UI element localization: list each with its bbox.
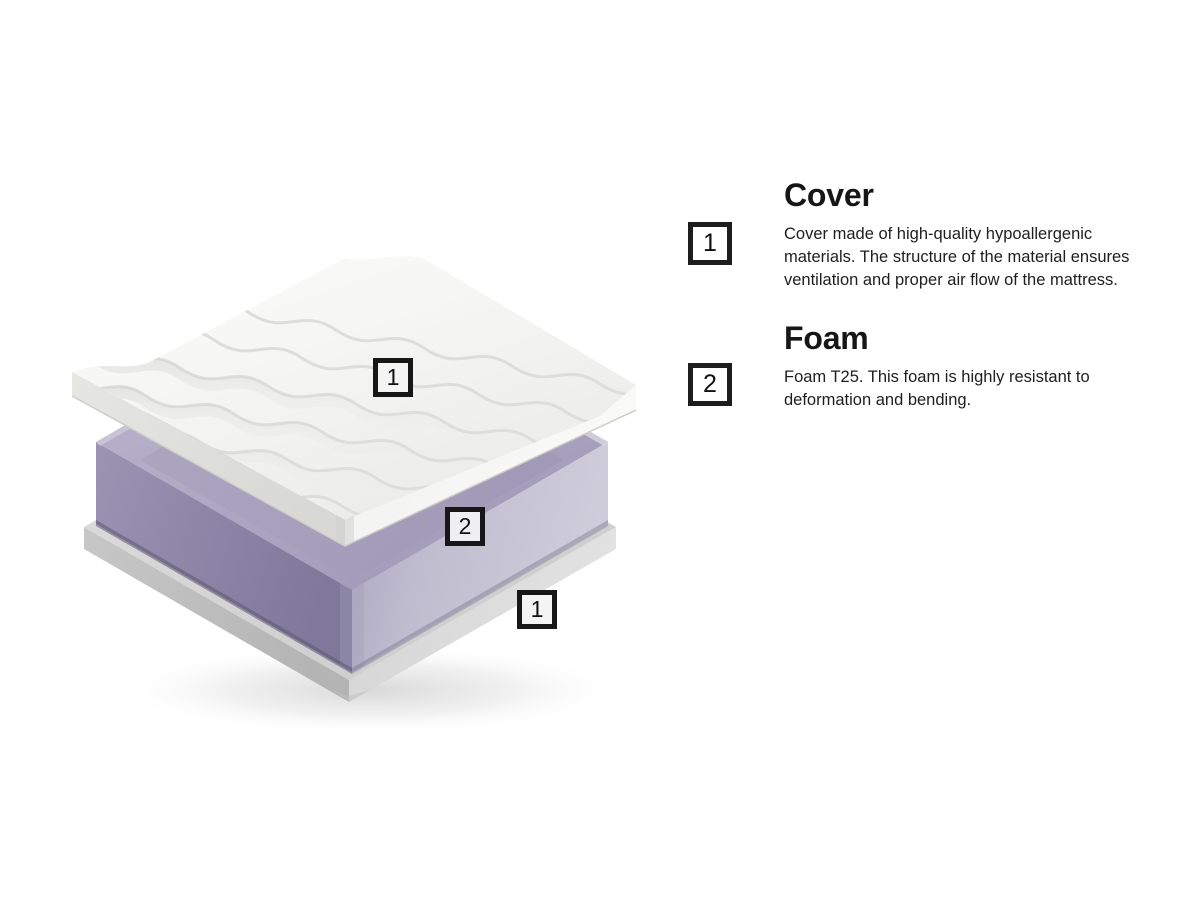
legend: 1 Cover Cover made of high-quality hypoa… — [688, 175, 1158, 438]
legend-badge-1: 1 — [688, 222, 732, 265]
marker-foam[interactable]: 2 — [445, 507, 485, 546]
legend-title-cover: Cover — [784, 175, 1158, 215]
legend-badge-2: 2 — [688, 363, 732, 406]
marker-cover-top[interactable]: 1 — [373, 358, 413, 397]
legend-description-cover: Cover made of high-quality hypoallergeni… — [784, 223, 1156, 292]
illustration-stage: 1 2 1 1 Cover Cover made of high-quality… — [0, 0, 1200, 899]
legend-item-cover: 1 Cover Cover made of high-quality hypoa… — [688, 175, 1158, 292]
mattress-cross-section-illustration — [40, 220, 680, 740]
legend-description-foam: Foam T25. This foam is highly resistant … — [784, 366, 1156, 412]
legend-item-foam: 2 Foam Foam T25. This foam is highly res… — [688, 318, 1158, 412]
legend-text-foam: Foam Foam T25. This foam is highly resis… — [784, 318, 1158, 412]
marker-cover-base[interactable]: 1 — [517, 590, 557, 629]
legend-text-cover: Cover Cover made of high-quality hypoall… — [784, 175, 1158, 292]
legend-title-foam: Foam — [784, 318, 1158, 358]
